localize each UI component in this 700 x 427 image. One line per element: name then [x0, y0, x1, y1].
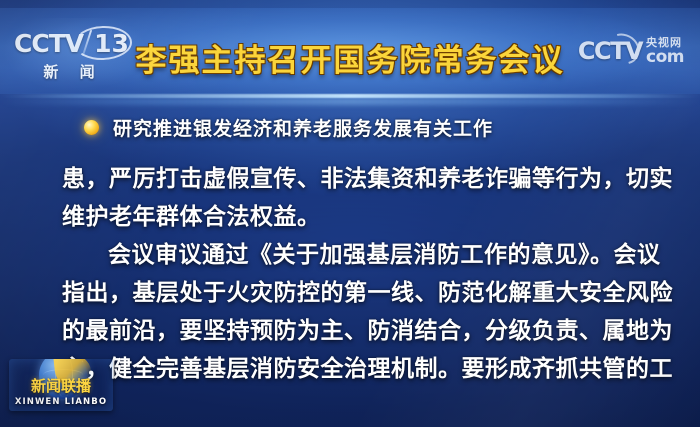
body-text: 患，严厉打击虚假宣传、非法集资和养老诈骗等行为，切实 维护老年群体合法权益。 会… — [62, 160, 660, 388]
subtitle-text: 研究推进银发经济和养老服务发展有关工作 — [113, 114, 493, 141]
page-title: 李强主持召开国务院常务会议 — [0, 46, 700, 77]
broadcast-news-screen: CCTV 13 新 闻 CCTV 央视网 com 李强主持召开国务院常务会议 研… — [0, 0, 700, 427]
body-line: 指出，基层处于火灾防控的第一线、防范化解重大安全风险 — [62, 274, 660, 312]
program-name-en: XINWEN LIANBO — [9, 397, 113, 407]
program-name-cn: 新闻联播 — [9, 375, 113, 396]
xinwen-lianbo-logo: 新闻联播 XINWEN LIANBO — [9, 359, 113, 411]
body-line: 维护老年群体合法权益。 — [62, 198, 660, 236]
body-line: 主，健全完善基层消防安全治理机制。要形成齐抓共管的工 — [62, 350, 660, 388]
dot-bullet-icon — [84, 120, 99, 135]
subtitle-row: 研究推进银发经济和养老服务发展有关工作 — [84, 114, 493, 141]
body-line: 会议审议通过《关于加强基层消防工作的意见》。会议 — [62, 236, 660, 274]
body-line: 患，严厉打击虚假宣传、非法集资和养老诈骗等行为，切实 — [62, 160, 660, 198]
title-band-separator-glow — [0, 98, 700, 105]
body-line: 的最前沿，要坚持预防为主、防消结合，分级负责、属地为 — [62, 312, 660, 350]
